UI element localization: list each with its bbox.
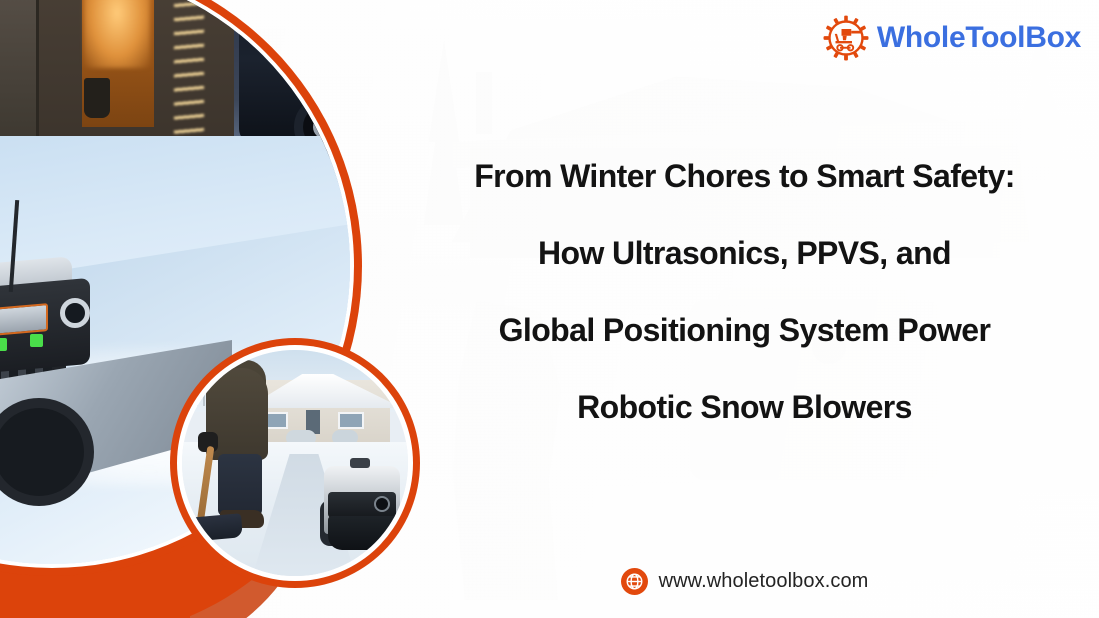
background-chimney xyxy=(476,72,492,134)
brand-logo[interactable]: WholeToolBox xyxy=(822,14,1081,62)
website-url-row[interactable]: www.wholetoolbox.com xyxy=(408,568,1081,595)
top-photo-suv-windows xyxy=(274,0,350,44)
bottom-photo-robot-auger xyxy=(328,516,398,550)
website-url-text: www.wholetoolbox.com xyxy=(659,570,869,593)
bottom-photo-person xyxy=(200,368,278,518)
bottom-photo-person-legs xyxy=(218,454,262,516)
page-title: From Winter Chores to Smart Safety: How … xyxy=(408,160,1081,423)
top-photo-string-lights xyxy=(174,0,204,142)
top-photo-robot-sensor-4 xyxy=(60,298,90,328)
globe-icon xyxy=(621,568,648,595)
gear-tool-logo-icon xyxy=(822,14,870,62)
top-photo-door-glow xyxy=(84,0,150,68)
top-photo-robot-led-2 xyxy=(30,334,43,347)
person-shoveling-with-robot-photo xyxy=(182,350,408,576)
headline-line-3: Global Positioning System Power xyxy=(408,314,1081,346)
bottom-photo-robot-top xyxy=(350,458,370,468)
top-photo-potted-plant xyxy=(84,78,110,118)
blog-banner: WholeToolBox From Winter Chores to Smart… xyxy=(0,0,1099,618)
top-photo-garage-door xyxy=(0,0,39,138)
headline-line-4: Robotic Snow Blowers xyxy=(408,391,1081,423)
bottom-photo-robot-lens xyxy=(374,496,390,512)
brand-name: WholeToolBox xyxy=(877,21,1081,55)
headline-line-1: From Winter Chores to Smart Safety: xyxy=(408,160,1081,192)
top-photo-robot-led-1 xyxy=(0,338,7,351)
headline-line-2: How Ultrasonics, PPVS, and xyxy=(408,237,1081,269)
bottom-photo-shovel-handle xyxy=(197,446,215,524)
bottom-photo-window-right xyxy=(338,412,364,429)
